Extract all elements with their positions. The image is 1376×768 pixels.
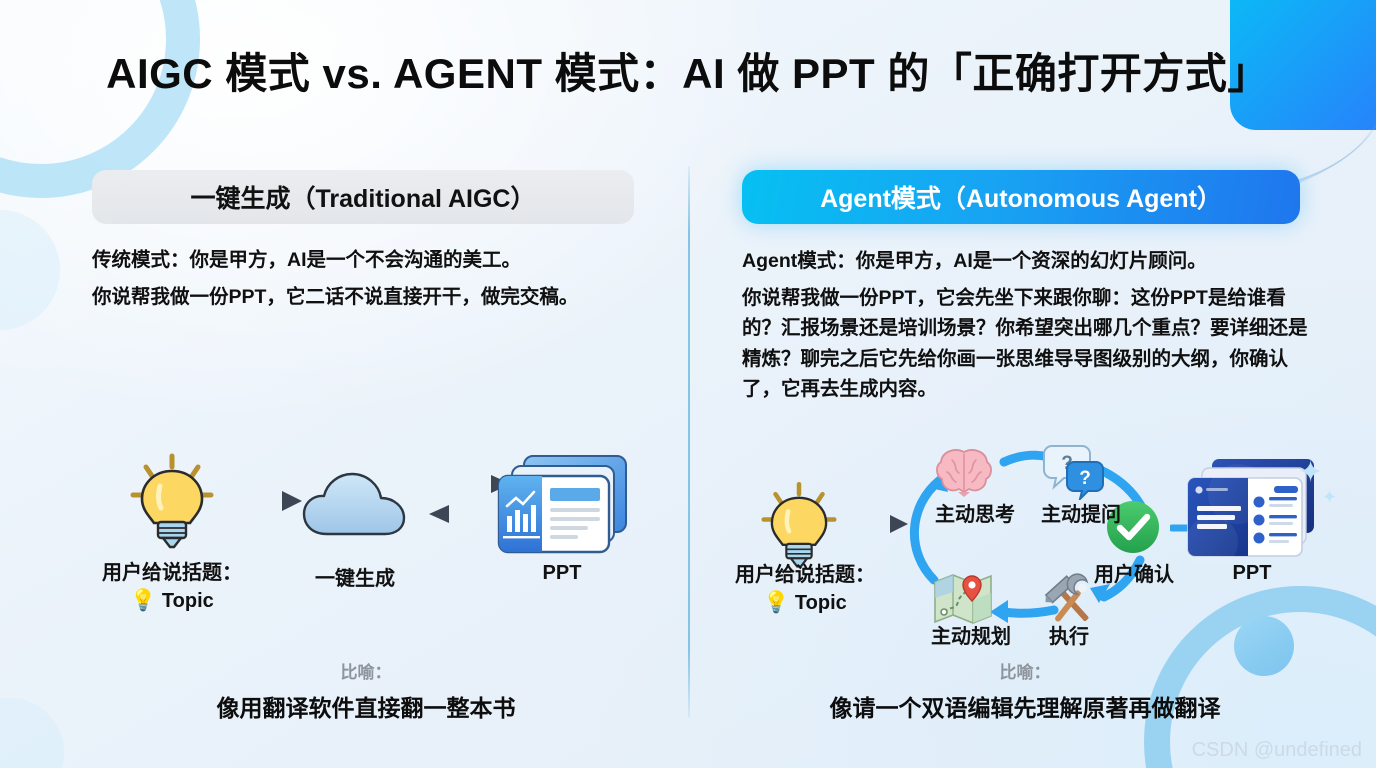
left-topic-label: 用户给说括题： 💡 Topic (88, 560, 256, 615)
right-paragraph-1: Agent模式：你是甲方，AI是一个资深的幻灯片顾问。 (742, 246, 1308, 276)
right-output-label: PPT (1196, 562, 1308, 585)
speech-bubbles-icon: ? ? (1042, 442, 1104, 500)
topic-bulb-glyph: 💡 (130, 589, 156, 612)
right-column: Agent模式（Autonomous Agent） Agent模式：你是甲方，A… (742, 170, 1308, 411)
ppt-slides-icon (492, 450, 632, 558)
right-topic-label: 用户给说括题： 💡 Topic (720, 562, 890, 617)
ppt-slides-icon (1178, 454, 1326, 566)
left-caption: 比喻： 像用翻译软件直接翻一整本书 (92, 658, 640, 723)
left-caption-lead: 比喻： (92, 658, 640, 683)
left-column: 一键生成（Traditional AIGC） 传统模式：你是甲方，AI是一个不会… (92, 170, 640, 319)
cycle-label-confirm: 用户确认 (1076, 558, 1192, 587)
left-caption-main: 像用翻译软件直接翻一整本书 (92, 689, 640, 723)
cycle-label-think: 主动思考 (920, 498, 1030, 527)
topic-bulb-glyph: 💡 (763, 591, 789, 614)
left-paragraph-1: 传统模式：你是甲方，AI是一个不会沟通的美工。 (92, 246, 640, 276)
svg-text:?: ? (1079, 468, 1091, 489)
circle-decoration-bottom-left (0, 698, 64, 768)
left-middle-label: 一键生成 (280, 562, 430, 591)
right-paragraph-2: 你说帮我做一份PPT，它会先坐下来跟你聊：这份PPT是给谁看的？汇报场景还是培训… (742, 283, 1308, 404)
left-body-text: 传统模式：你是甲方，AI是一个不会沟通的美工。 你说帮我做一份PPT，它二话不说… (92, 246, 640, 312)
slide-canvas: AIGC 模式 vs. AGENT 模式：AI 做 PPT 的「正确打开方式」 … (0, 0, 1376, 768)
right-body-text: Agent模式：你是甲方，AI是一个资深的幻灯片顾问。 你说帮我做一份PPT，它… (742, 246, 1308, 404)
cloud-icon (301, 466, 409, 540)
right-flow-diagram: ? ? (726, 440, 1326, 650)
left-panel-header: 一键生成（Traditional AIGC） (92, 170, 634, 224)
right-caption: 比喻： 像请一个双语编辑先理解原著再做翻译 (742, 658, 1308, 723)
page-title: AIGC 模式 vs. AGENT 模式：AI 做 PPT 的「正确打开方式」 (0, 40, 1376, 101)
brain-icon (934, 446, 994, 498)
right-caption-lead: 比喻： (742, 658, 1308, 683)
left-flow-diagram: 用户给说括题： 💡 Topic 一键生成 PPT (92, 450, 640, 610)
right-panel-header: Agent模式（Autonomous Agent） (742, 170, 1300, 224)
cycle-label-plan: 主动规划 (916, 620, 1026, 649)
cycle-label-execute: 执行 (1026, 620, 1112, 649)
lightbulb-icon (120, 450, 224, 550)
watermark: CSDN @undefined (1192, 739, 1362, 762)
left-output-label: PPT (498, 562, 626, 585)
column-divider (688, 166, 690, 718)
cycle-label-ask: 主动提问 (1026, 498, 1136, 527)
lightbulb-icon (752, 478, 846, 570)
arrow-right-icon (228, 488, 304, 514)
blob-decoration-left (0, 210, 60, 330)
left-paragraph-2: 你说帮我做一份PPT，它二话不说直接开干，做完交稿。 (92, 283, 640, 313)
right-caption-main: 像请一个双语编辑先理解原著再做翻译 (742, 689, 1308, 723)
